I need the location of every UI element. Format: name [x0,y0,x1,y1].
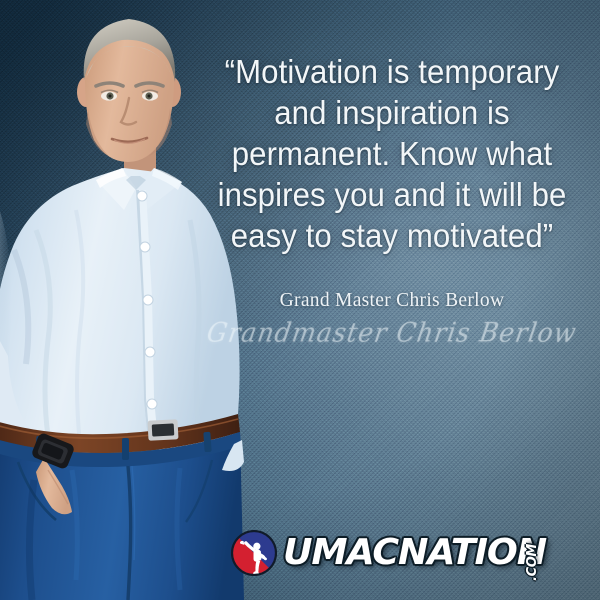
logo-tld: .COM [526,544,539,581]
umac-badge-icon [230,529,278,577]
logo-wordmark: UMACNATION [283,535,546,571]
quote-text: “Motivation is temporary and inspiration… [210,52,575,257]
quote-attribution: Grand Master Chris Berlow [196,290,588,312]
umacnation-logo[interactable]: UMACNATION .COM [230,524,536,582]
signature-script: Grandmaster Chris Berlow [194,317,591,348]
quote-graphic-canvas: “Motivation is temporary and inspiration… [0,0,600,600]
